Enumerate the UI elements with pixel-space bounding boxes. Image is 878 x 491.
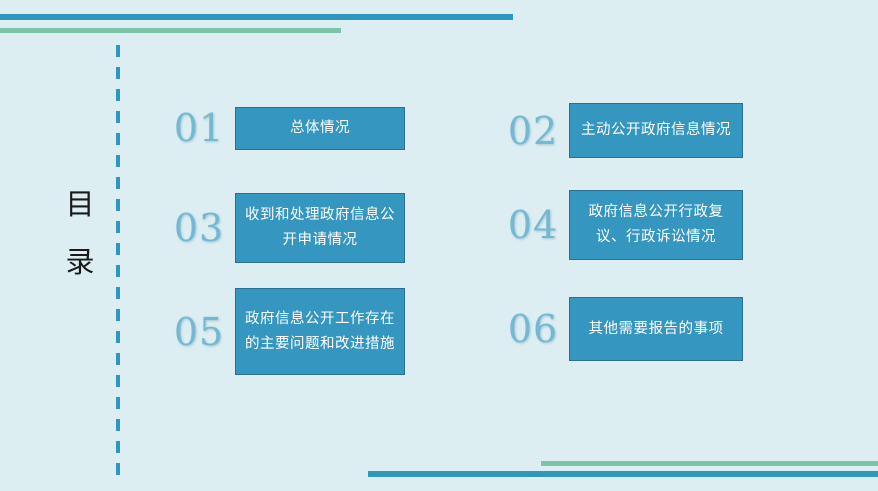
agenda-chip-04[interactable]: 政府信息公开行政复议、行政诉讼情况 bbox=[569, 190, 743, 260]
agenda-item-03[interactable]: 03 收到和处理政府信息公开申请情况 bbox=[163, 193, 405, 263]
agenda-label-04: 政府信息公开行政复议、行政诉讼情况 bbox=[578, 200, 734, 250]
agenda-item-06[interactable]: 06 其他需要报告的事项 bbox=[497, 297, 743, 361]
agenda-label-01: 总体情况 bbox=[290, 116, 350, 141]
agenda-item-02[interactable]: 02 主动公开政府信息情况 bbox=[497, 103, 743, 158]
agenda-item-05[interactable]: 05 政府信息公开工作存在的主要问题和改进措施 bbox=[163, 288, 405, 375]
agenda-chip-01[interactable]: 总体情况 bbox=[235, 107, 405, 150]
agenda-number-02: 02 bbox=[497, 109, 569, 153]
agenda-number-01: 01 bbox=[163, 106, 235, 150]
agenda-number-04: 04 bbox=[497, 203, 569, 247]
agenda-chip-03[interactable]: 收到和处理政府信息公开申请情况 bbox=[235, 193, 405, 263]
agenda-list: 01 总体情况 02 主动公开政府信息情况 03 收到和处理政府信息公开申请情况… bbox=[0, 0, 878, 491]
agenda-number-05: 05 bbox=[163, 310, 235, 354]
agenda-label-02: 主动公开政府信息情况 bbox=[581, 118, 731, 143]
agenda-chip-05[interactable]: 政府信息公开工作存在的主要问题和改进措施 bbox=[235, 288, 405, 375]
agenda-number-06: 06 bbox=[497, 307, 569, 351]
agenda-number-03: 03 bbox=[163, 206, 235, 250]
agenda-label-03: 收到和处理政府信息公开申请情况 bbox=[244, 203, 396, 253]
agenda-chip-06[interactable]: 其他需要报告的事项 bbox=[569, 297, 743, 361]
agenda-item-01[interactable]: 01 总体情况 bbox=[163, 106, 405, 150]
agenda-chip-02[interactable]: 主动公开政府信息情况 bbox=[569, 103, 743, 158]
agenda-label-05: 政府信息公开工作存在的主要问题和改进措施 bbox=[244, 307, 396, 357]
presentation-slide: 目 录 01 总体情况 02 主动公开政府信息情况 03 收到和处理政府信息公开… bbox=[0, 0, 878, 491]
agenda-label-06: 其他需要报告的事项 bbox=[589, 317, 724, 342]
agenda-item-04[interactable]: 04 政府信息公开行政复议、行政诉讼情况 bbox=[497, 190, 743, 260]
